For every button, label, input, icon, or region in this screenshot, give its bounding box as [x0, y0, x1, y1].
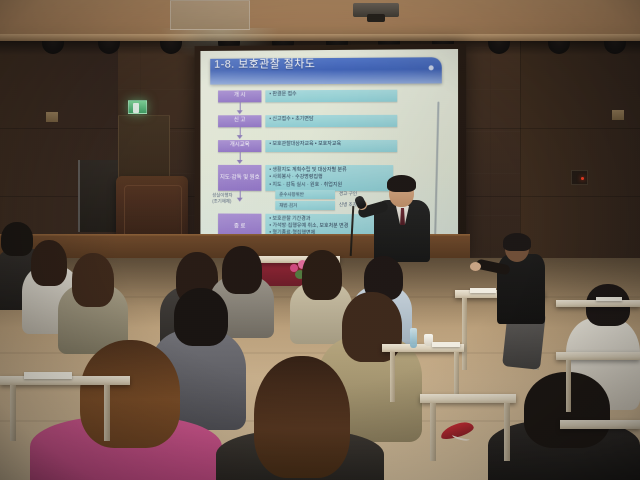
desk-paper: [470, 288, 496, 293]
wall-plaque: [612, 110, 624, 120]
presenter-hair: [387, 175, 416, 192]
lectern-front-panel: [124, 185, 182, 235]
projector-lens-icon: [367, 14, 385, 22]
running-person-icon: [133, 103, 139, 113]
student-desk-leg: [104, 385, 110, 441]
student-desk: [556, 352, 640, 360]
desk-paper: [596, 297, 622, 301]
exit-sign: [128, 100, 147, 114]
student-desk-leg: [10, 385, 16, 441]
wall-plaque: [46, 112, 58, 122]
seated-attendee-hair: [503, 233, 531, 251]
side-desk-leg: [462, 298, 467, 370]
student-desk: [420, 394, 516, 403]
lectern: [116, 176, 188, 240]
student-desk-leg: [504, 403, 510, 461]
wall-control-box[interactable]: [571, 170, 588, 185]
desk-paper: [24, 372, 72, 379]
projector-mount: [170, 0, 250, 30]
student-desk-leg: [430, 403, 436, 461]
student-desk: [560, 420, 640, 429]
audience-hair: [72, 253, 114, 307]
audience-hair: [1, 222, 33, 256]
ceiling-lip: [0, 34, 640, 41]
water-bottle: [410, 328, 417, 348]
audience-hair: [31, 240, 67, 286]
student-desk-leg: [566, 360, 571, 412]
student-desk-leg: [390, 352, 395, 402]
student-desk: [556, 300, 640, 307]
lecture-hall-photo: 1-8. 보호관찰 절차도 개 시 • 판결문 접수 신 고 • 신고접수 • …: [0, 0, 640, 480]
desk-paper: [432, 342, 460, 347]
audience-hair: [254, 356, 350, 478]
seated-attendee-hand: [470, 262, 481, 271]
status-led-icon: [581, 177, 584, 180]
audience-hair: [302, 250, 342, 300]
audience-hair: [80, 340, 180, 448]
audience-hair: [174, 288, 228, 346]
audience-hair: [222, 246, 262, 294]
